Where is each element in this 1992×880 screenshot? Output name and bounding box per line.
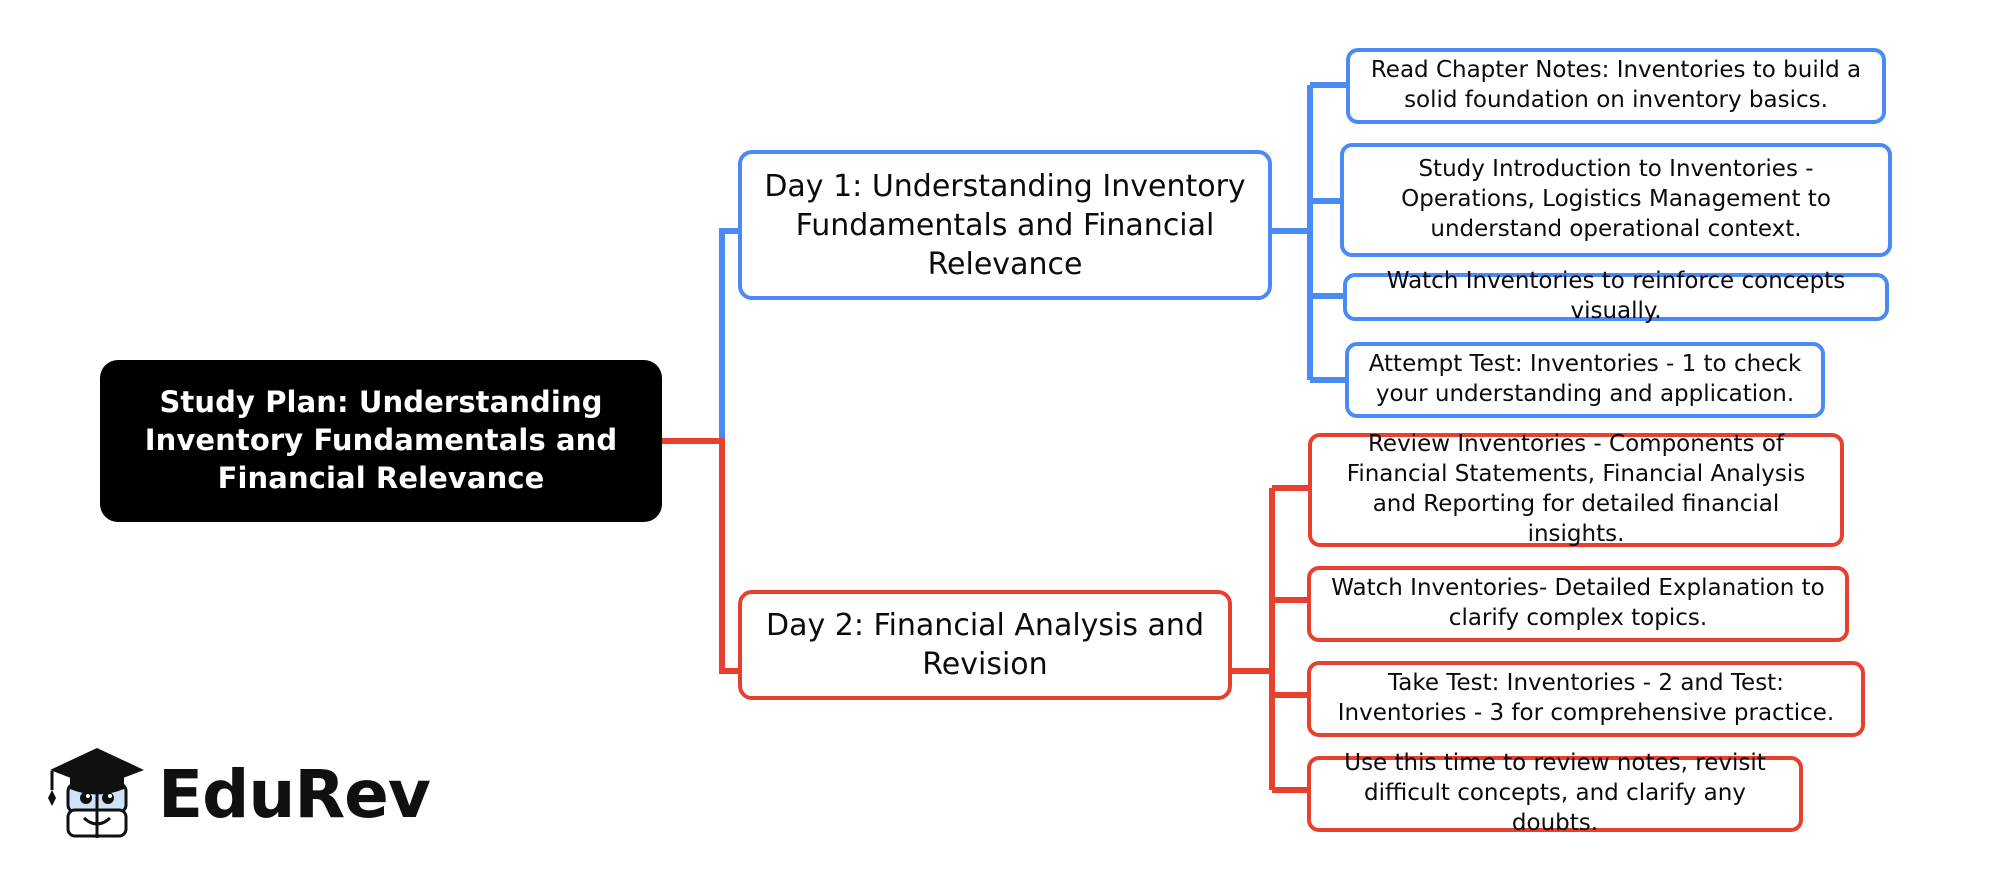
- leaf-node-day-1-4-label: Attempt Test: Inventories - 1 to check y…: [1362, 350, 1808, 410]
- leaf-node-day-1-2[interactable]: Study Introduction to Inventories - Oper…: [1340, 143, 1892, 257]
- leaf-node-day-2-2-label: Watch Inventories- Detailed Explanation …: [1324, 574, 1832, 634]
- leaf-node-day-1-1-label: Read Chapter Notes: Inventories to build…: [1363, 56, 1869, 116]
- branch-node-day-2[interactable]: Day 2: Financial Analysis and Revision: [738, 590, 1232, 700]
- edurev-logo: EduRev: [40, 740, 380, 850]
- root-node-label: Study Plan: Understanding Inventory Fund…: [118, 384, 644, 497]
- branch-node-day-1[interactable]: Day 1: Understanding Inventory Fundament…: [738, 150, 1272, 300]
- branch-node-day-2-label: Day 2: Financial Analysis and Revision: [758, 606, 1212, 684]
- branch-node-day-1-label: Day 1: Understanding Inventory Fundament…: [758, 167, 1252, 284]
- leaf-node-day-2-2[interactable]: Watch Inventories- Detailed Explanation …: [1307, 566, 1849, 642]
- leaf-node-day-1-4[interactable]: Attempt Test: Inventories - 1 to check y…: [1345, 342, 1825, 418]
- leaf-node-day-2-3[interactable]: Take Test: Inventories - 2 and Test: Inv…: [1307, 661, 1865, 737]
- leaf-node-day-1-3-label: Watch Inventories to reinforce concepts …: [1360, 267, 1872, 327]
- graduation-cap-book-mascot-icon: [40, 742, 148, 848]
- leaf-node-day-1-2-label: Study Introduction to Inventories - Oper…: [1357, 155, 1875, 245]
- leaf-node-day-1-1[interactable]: Read Chapter Notes: Inventories to build…: [1346, 48, 1886, 124]
- leaf-node-day-2-4-label: Use this time to review notes, revisit d…: [1324, 749, 1786, 839]
- leaf-node-day-2-1[interactable]: Review Inventories - Components of Finan…: [1308, 433, 1844, 547]
- leaf-node-day-2-4[interactable]: Use this time to review notes, revisit d…: [1307, 756, 1803, 832]
- leaf-node-day-2-3-label: Take Test: Inventories - 2 and Test: Inv…: [1324, 669, 1848, 729]
- leaf-node-day-2-1-label: Review Inventories - Components of Finan…: [1325, 430, 1827, 550]
- edurev-wordmark: EduRev: [158, 762, 430, 828]
- leaf-node-day-1-3[interactable]: Watch Inventories to reinforce concepts …: [1343, 273, 1889, 321]
- mindmap-canvas: Study Plan: Understanding Inventory Fund…: [0, 0, 1992, 880]
- root-node[interactable]: Study Plan: Understanding Inventory Fund…: [100, 360, 662, 522]
